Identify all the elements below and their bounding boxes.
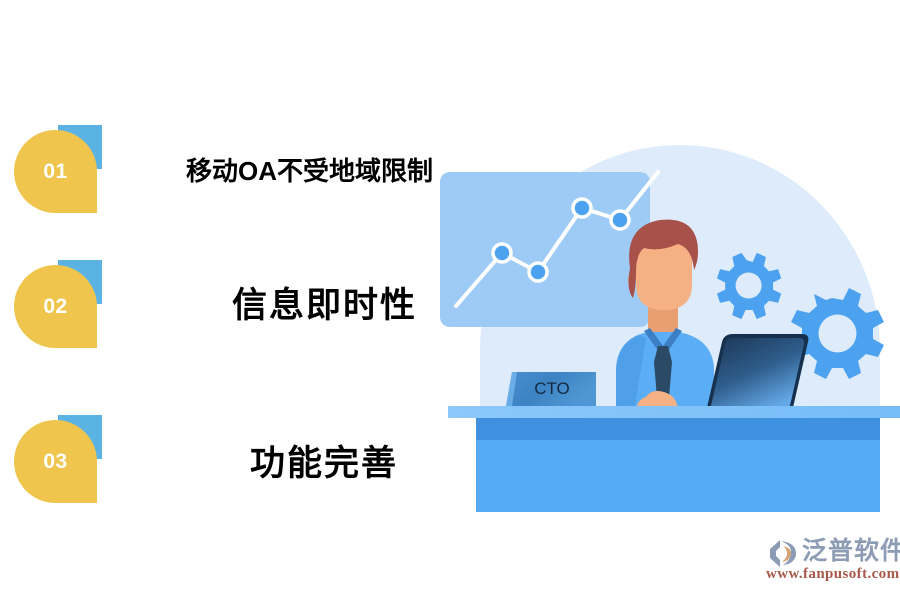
laptop [706,334,808,412]
feature-row[interactable]: 03 [0,415,470,515]
feature-badge: 03 [14,415,102,503]
fanpu-logo-icon [766,538,800,568]
badge-number: 01 [14,130,97,213]
chart-panel [440,172,658,327]
feature-label: 功能完善 [250,446,398,481]
desk [448,406,900,512]
feature-label: 信息即时性 [232,288,417,323]
feature-label: 移动OA不受地域限制 [186,158,433,184]
nameplate: CTO [506,372,596,406]
nameplate-label: CTO [534,379,570,398]
feature-badge: 01 [14,125,102,213]
feature-badge: 02 [14,260,102,348]
watermark-logo: 泛普软件 www.fanpusoft.com [766,536,894,586]
brand-url: www.fanpusoft.com [766,566,899,583]
badge-number: 02 [14,265,97,348]
brand-name-cn: 泛普软件 [802,536,900,566]
badge-number: 03 [14,420,97,503]
business-illustration: CTO [420,100,900,530]
slide-canvas: 01 移动OA不受地域限制 02 信息即时性 03 功能完善 [0,0,900,600]
